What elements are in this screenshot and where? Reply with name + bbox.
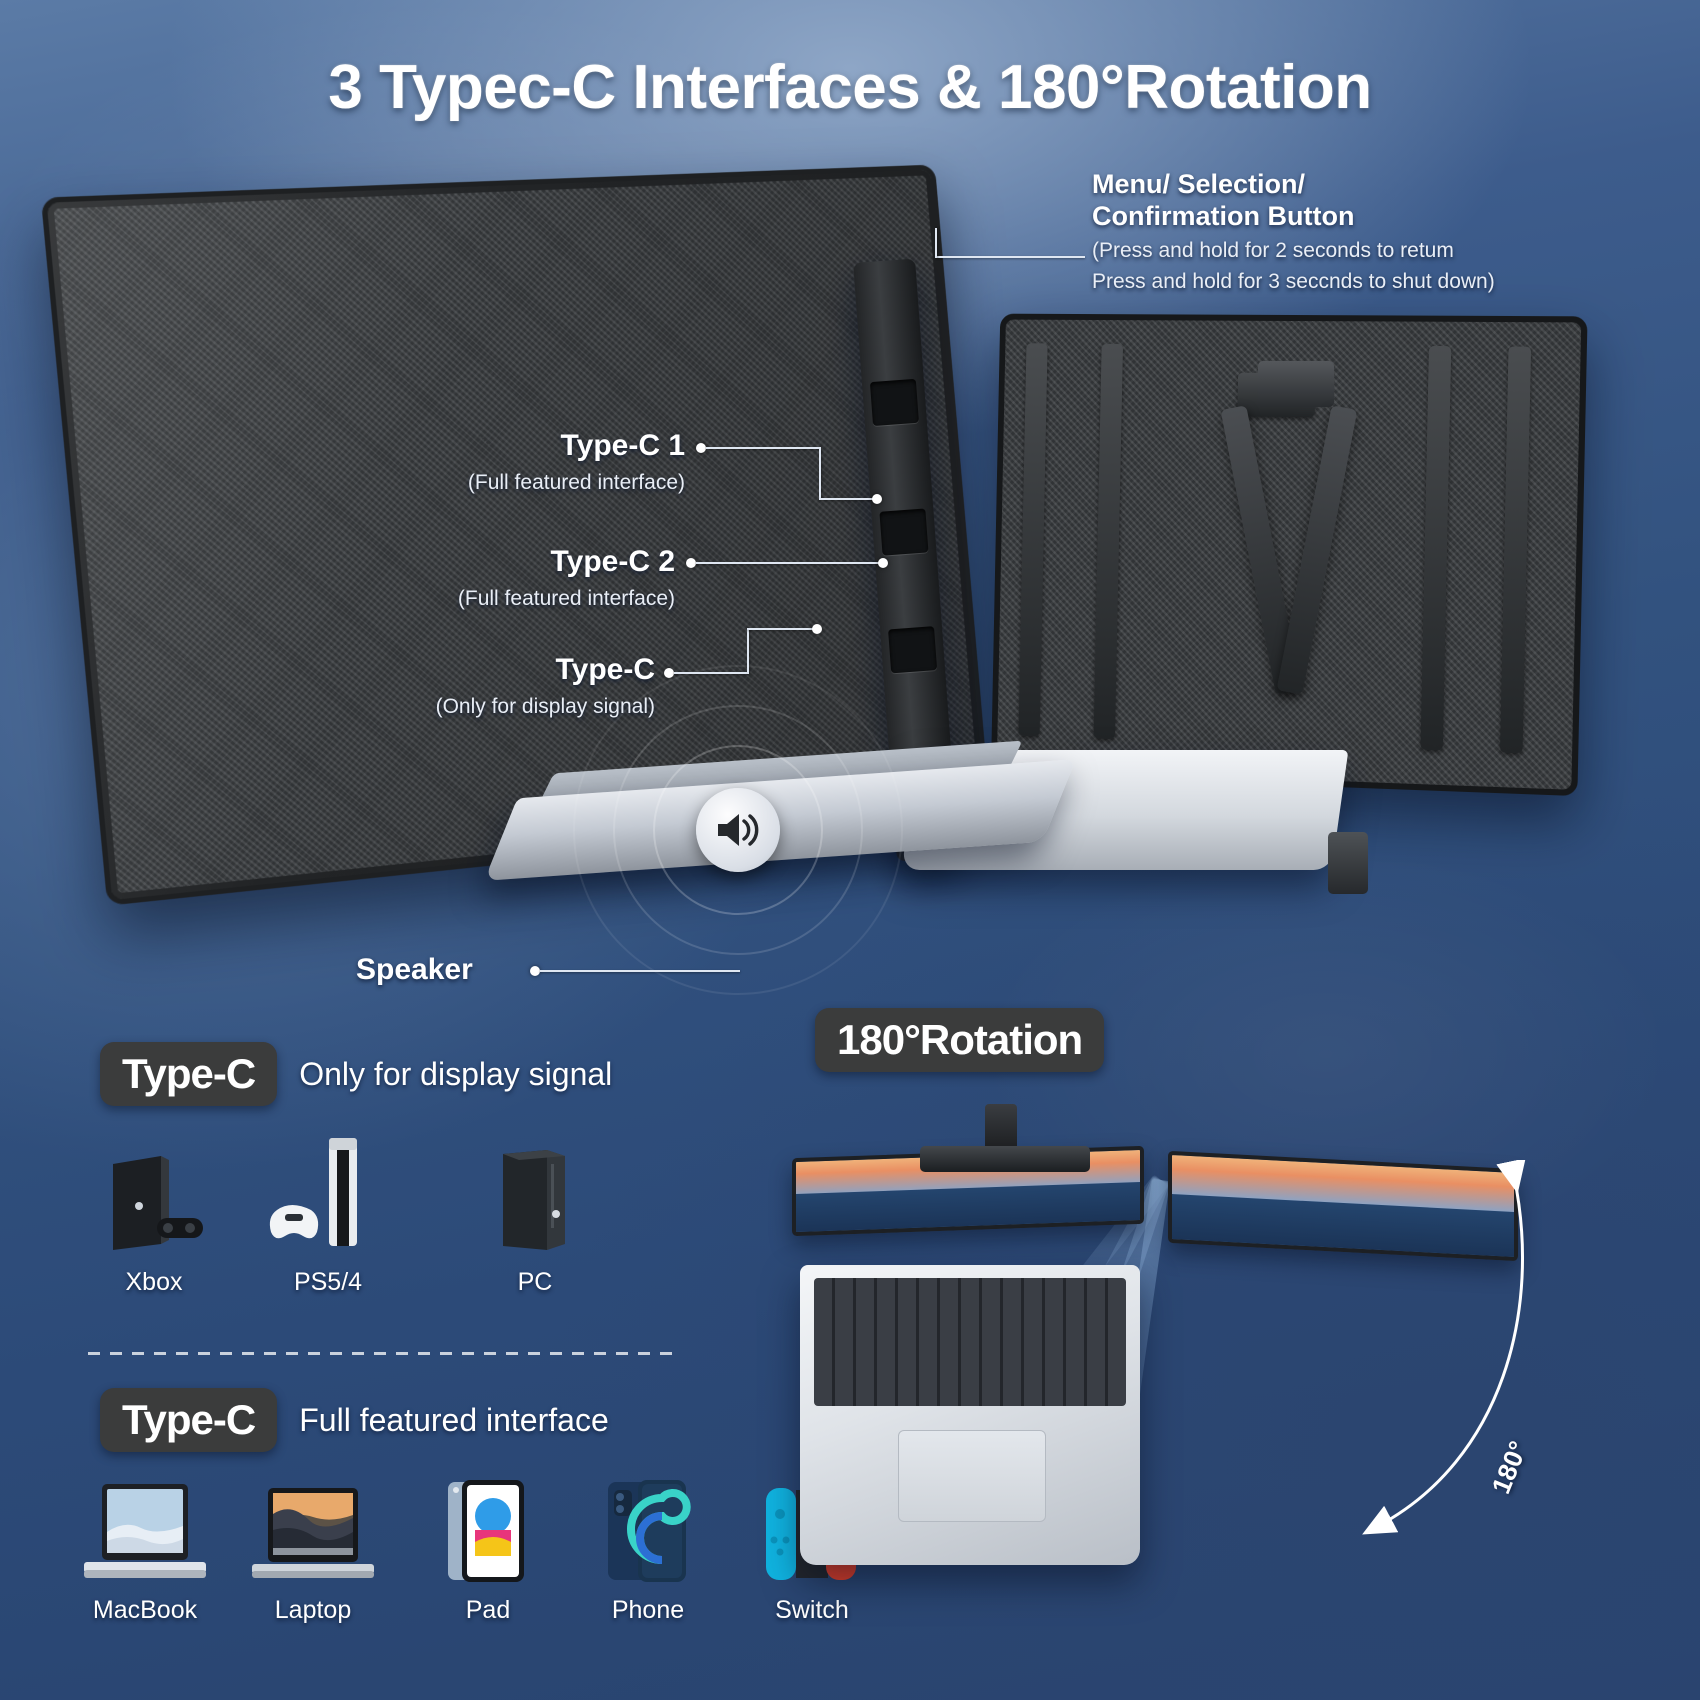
speaker-callout: Speaker: [356, 952, 473, 988]
device-item-pc[interactable]: PC: [483, 1148, 587, 1297]
port-1-leader-dot: [696, 443, 706, 453]
device-item-laptop[interactable]: Laptop: [250, 1478, 376, 1625]
port-3-label: Type-C: [390, 652, 655, 688]
device-label: Xbox: [126, 1268, 183, 1297]
port-callout-1: Type-C 1 (Full featured interface): [415, 428, 685, 496]
playstation-console-icon: [267, 1148, 389, 1258]
section-divider: [88, 1352, 673, 1355]
port-callout-3: Type-C (Only for display signal): [390, 652, 655, 720]
port-2-label: Type-C 2: [405, 544, 675, 580]
device-item-ps5[interactable]: PS5/4: [267, 1148, 389, 1297]
laptop-icon: [250, 1478, 376, 1586]
speaker-leader-dot: [530, 966, 540, 976]
port-1-sub: (Full featured interface): [415, 470, 685, 496]
port-3-target-dot: [812, 624, 822, 634]
rotation-laptop-trackpad: [898, 1430, 1046, 1522]
port-1-target-dot: [872, 494, 882, 504]
device-item-pad[interactable]: Pad: [440, 1478, 536, 1625]
menu-callout-leader-line: [935, 256, 1085, 258]
type-c-port-3: [888, 626, 937, 673]
mount-bar: [920, 1146, 1090, 1172]
type-c-display-group-header: Type-C Only for display signal: [100, 1042, 612, 1106]
device-item-xbox[interactable]: Xbox: [95, 1148, 213, 1297]
type-c-badge-description: Only for display signal: [299, 1056, 612, 1093]
rotation-arc: [1110, 1160, 1590, 1580]
hinge-rib: [1420, 346, 1451, 751]
device-item-macbook[interactable]: MacBook: [82, 1478, 208, 1625]
rotation-laptop-keyboard: [814, 1278, 1126, 1406]
port-3-leader-stem: [747, 628, 749, 674]
type-c-badge: Type-C: [100, 1042, 277, 1106]
port-2-leader-dot: [686, 558, 696, 568]
menu-callout-heading-2: Confirmation Button: [1092, 200, 1692, 232]
port-1-label: Type-C 1: [415, 428, 685, 464]
kickstand-leg-right: [1277, 405, 1358, 695]
speaker-icon: [696, 788, 780, 872]
pc-tower-icon: [483, 1148, 587, 1258]
smartphone-icon: [602, 1478, 694, 1586]
device-label: PS5/4: [294, 1268, 362, 1297]
device-label: Phone: [612, 1596, 684, 1625]
port-3-leader-line-2: [747, 628, 819, 630]
page-title: 3 Typec-C Interfaces & 180°Rotation: [0, 52, 1700, 123]
menu-callout-sub-1: (Press and hold for 2 seconds to retum: [1092, 238, 1692, 264]
rotation-badge-row: 180°Rotation: [815, 1008, 1104, 1072]
speaker-leader-line: [540, 970, 740, 972]
device-item-phone[interactable]: Phone: [602, 1478, 694, 1625]
rotation-diagram: 180°: [780, 1100, 1600, 1580]
type-c-port-2: [879, 508, 928, 555]
xbox-console-icon: [95, 1148, 213, 1258]
display-signal-device-list: Xbox PS5/4: [95, 1148, 587, 1297]
type-c-badge-description: Full featured interface: [299, 1402, 609, 1439]
port-1-leader-line-2: [819, 498, 879, 500]
device-label: PC: [518, 1268, 553, 1297]
port-2-leader-line: [696, 562, 884, 564]
hinge-rib: [1018, 343, 1047, 736]
port-2-sub: (Full featured interface): [405, 586, 675, 612]
tablet-icon: [440, 1478, 536, 1586]
port-callout-2: Type-C 2 (Full featured interface): [405, 544, 675, 612]
port-2-target-dot: [878, 558, 888, 568]
menu-button-callout: Menu/ Selection/ Confirmation Button (Pr…: [1092, 168, 1692, 295]
hinge-rib: [1500, 346, 1531, 753]
full-featured-device-list: MacBook Laptop: [82, 1478, 864, 1625]
device-label: MacBook: [93, 1596, 197, 1625]
port-3-leader-line: [674, 672, 749, 674]
port-1-leader-stem: [819, 447, 821, 499]
kickstand: [1230, 405, 1360, 695]
device-label: Laptop: [275, 1596, 351, 1625]
port-3-sub: (Only for display signal): [390, 694, 655, 720]
device-label: Pad: [466, 1596, 510, 1625]
type-c-full-group-header: Type-C Full featured interface: [100, 1388, 609, 1452]
menu-callout-heading-1: Menu/ Selection/: [1092, 168, 1692, 200]
device-label: Switch: [775, 1596, 849, 1625]
port-1-leader-line: [706, 447, 821, 449]
rotation-badge: 180°Rotation: [815, 1008, 1104, 1072]
menu-callout-sub-2: Press and hold for 3 seccnds to shut dow…: [1092, 269, 1692, 295]
macbook-icon: [82, 1478, 208, 1586]
type-c-badge: Type-C: [100, 1388, 277, 1452]
menu-callout-leader-stem: [935, 228, 937, 258]
stand-foot: [1328, 832, 1368, 894]
hinge-rib: [1094, 344, 1123, 739]
type-c-port-1: [870, 379, 919, 426]
kickstand-head: [1258, 361, 1334, 407]
port-3-leader-dot: [664, 668, 674, 678]
speaker-label: Speaker: [356, 953, 473, 986]
